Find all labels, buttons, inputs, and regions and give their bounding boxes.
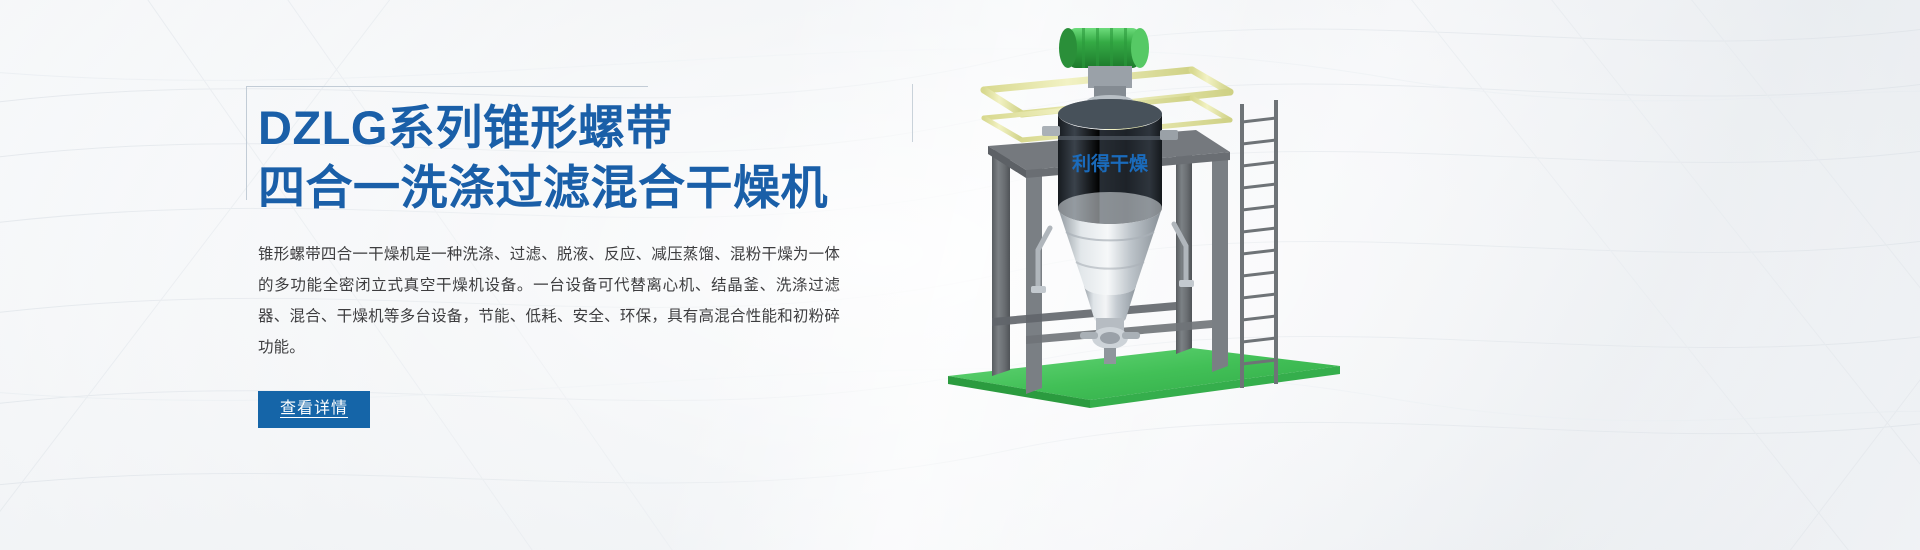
conical-vessel [1058, 192, 1162, 324]
decorative-bracket-left [246, 86, 247, 200]
view-details-button[interactable]: 查看详情 [258, 391, 370, 428]
hero-banner: DZLG系列锥形螺带 四合一洗涤过滤混合干燥机 锥形螺带四合一干燥机是一种洗涤、… [0, 0, 1920, 550]
decorative-bracket-right [912, 84, 913, 142]
view-details-label: 查看详情 [280, 400, 348, 417]
title-line-2: 四合一洗涤过滤混合干燥机 [258, 158, 878, 218]
hero-content: DZLG系列锥形螺带 四合一洗涤过滤混合干燥机 锥形螺带四合一干燥机是一种洗涤、… [258, 86, 878, 428]
product-description: 锥形螺带四合一干燥机是一种洗涤、过滤、脱液、反应、减压蒸馏、混粉干燥为一体的多功… [258, 239, 840, 363]
product-image: 利得干燥 [930, 18, 1390, 438]
title-line-1: DZLG系列锥形螺带 [258, 98, 878, 158]
access-ladder [1242, 100, 1276, 388]
product-watermark: 利得干燥 [1072, 152, 1149, 175]
page-title: DZLG系列锥形螺带 四合一洗涤过滤混合干燥机 [258, 86, 878, 217]
conical-dryer-illustration-icon: 利得干燥 [930, 18, 1390, 438]
drive-motor [1059, 28, 1149, 109]
